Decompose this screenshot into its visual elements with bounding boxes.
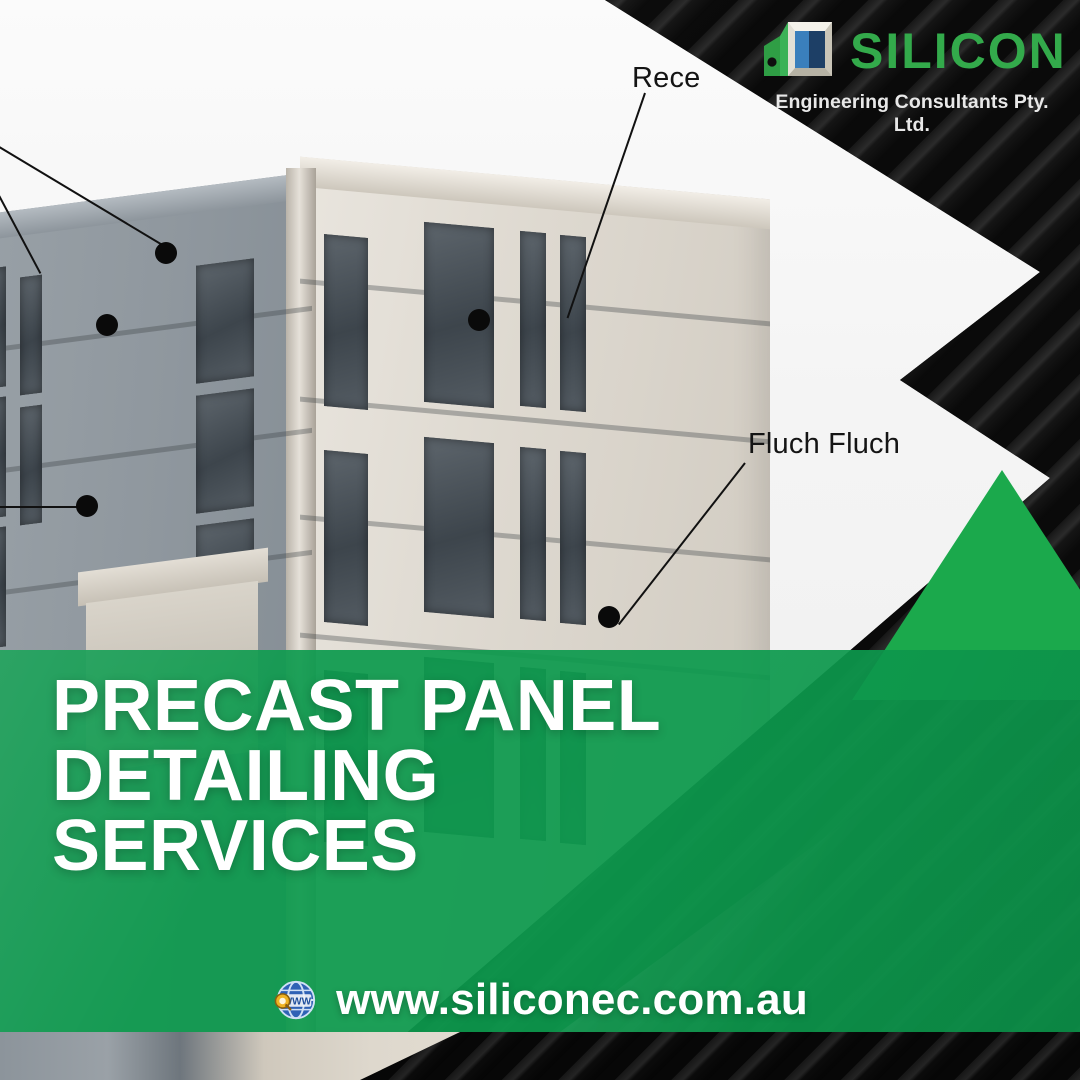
leader-line <box>0 126 168 249</box>
annotation-label-fluch: Fluch Fluch <box>748 428 900 461</box>
bottom-strip-dark <box>360 1032 1080 1080</box>
brand-logo[interactable]: SILICON Engineering Consultants Pty. Ltd… <box>762 18 1062 122</box>
callout-dot <box>76 495 98 517</box>
promotional-poster: Rece Fluch Fluch PRECAST PANEL DETAILING… <box>0 0 1080 1080</box>
callout-dot <box>155 242 177 264</box>
callout-dot <box>468 309 490 331</box>
website-url[interactable]: www.siliconec.com.au <box>336 975 808 1025</box>
title-line-1: PRECAST PANEL <box>52 672 772 742</box>
building-logo-icon <box>762 18 840 84</box>
footer-url-bar[interactable]: WWW www.siliconec.com.au <box>0 968 1080 1032</box>
brand-tagline: Engineering Consultants Pty. Ltd. <box>762 91 1062 137</box>
callout-dot <box>598 606 620 628</box>
page-title: PRECAST PANEL DETAILING SERVICES <box>52 672 772 881</box>
annotation-label-recess: Rece <box>632 62 701 95</box>
title-line-3: SERVICES <box>52 812 772 882</box>
callout-dot <box>96 314 118 336</box>
leader-line <box>567 93 646 319</box>
www-globe-icon: WWW <box>272 977 318 1023</box>
leader-line <box>618 462 746 625</box>
bottom-image-strip <box>0 1032 1080 1080</box>
brand-wordmark: SILICON <box>850 26 1067 76</box>
title-line-2: DETAILING <box>52 742 772 812</box>
leader-line <box>0 506 82 508</box>
